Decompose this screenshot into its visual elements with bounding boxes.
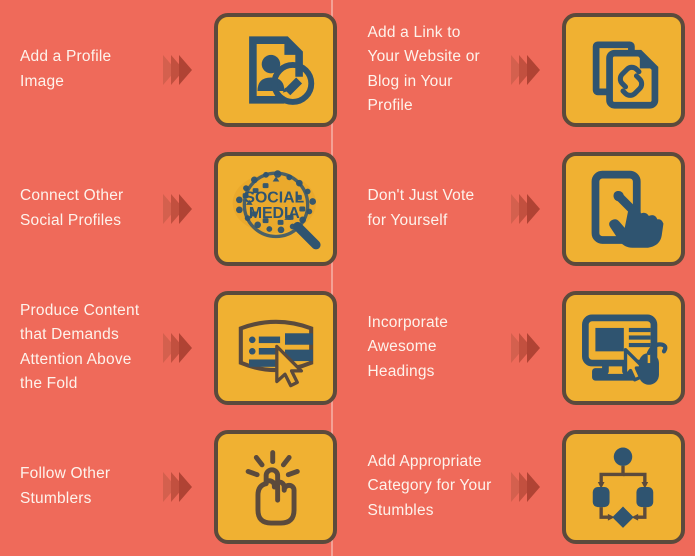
wordcloud-line-1: SOCIAL bbox=[244, 189, 304, 206]
triple-chevron-right-icon bbox=[500, 194, 556, 224]
profile-document-edit-icon bbox=[234, 28, 318, 112]
triple-chevron-right-icon bbox=[500, 472, 556, 502]
social-media-wordcloud-magnifier-icon: SOCIAL MEDIA bbox=[226, 163, 326, 255]
cell-label: Connect Other Social Profiles bbox=[20, 184, 148, 232]
icon-tile[interactable] bbox=[562, 13, 685, 127]
wordcloud-line-2: MEDIA bbox=[248, 205, 300, 222]
monitor-mouse-icon bbox=[577, 306, 669, 390]
icon-tile[interactable] bbox=[214, 430, 337, 544]
infographic-cell[interactable]: Produce Content that Demands Attention A… bbox=[0, 278, 348, 417]
cell-label: Add a Link to Your Website or Blog in Yo… bbox=[368, 21, 496, 117]
infographic-cell[interactable]: Add a Link to Your Website or Blog in Yo… bbox=[348, 0, 695, 139]
cell-label: Produce Content that Demands Attention A… bbox=[20, 299, 148, 395]
icon-tile[interactable] bbox=[562, 430, 685, 544]
infographic-cell[interactable]: Don't Just Vote for Yourself bbox=[348, 139, 695, 278]
cell-label: Follow Other Stumblers bbox=[20, 462, 148, 510]
icon-tile[interactable] bbox=[214, 291, 337, 405]
infographic-cell[interactable]: Add Appropriate Category for Your Stumbl… bbox=[348, 417, 695, 556]
triple-chevron-right-icon bbox=[500, 333, 556, 363]
content-layout-cursor-icon bbox=[231, 307, 321, 389]
clicking-hand-icon bbox=[235, 444, 317, 530]
triple-chevron-right-icon bbox=[152, 333, 208, 363]
icon-tile[interactable] bbox=[562, 291, 685, 405]
infographic-cell[interactable]: Incorporate Awesome Headings bbox=[348, 278, 695, 417]
triple-chevron-right-icon bbox=[152, 55, 208, 85]
triple-chevron-right-icon bbox=[500, 55, 556, 85]
icon-tile[interactable] bbox=[214, 13, 337, 127]
flowchart-category-icon bbox=[580, 445, 666, 529]
icon-tile[interactable]: SOCIAL MEDIA bbox=[214, 152, 337, 266]
triple-chevron-right-icon bbox=[152, 472, 208, 502]
cell-label: Don't Just Vote for Yourself bbox=[368, 184, 496, 232]
infographic-cell[interactable]: Follow Other Stumblers bbox=[0, 417, 348, 556]
triple-chevron-right-icon bbox=[152, 194, 208, 224]
infographic-cell[interactable]: Add a Profile Image bbox=[0, 0, 348, 139]
cell-label: Incorporate Awesome Headings bbox=[368, 311, 496, 383]
infographic-root: Add a Profile Image Add a Link to Your W… bbox=[0, 0, 695, 556]
cell-label: Add Appropriate Category for Your Stumbl… bbox=[368, 450, 496, 522]
icon-tile[interactable] bbox=[562, 152, 685, 266]
tablet-tap-hand-icon bbox=[580, 166, 666, 252]
cell-label: Add a Profile Image bbox=[20, 45, 148, 93]
linked-documents-icon bbox=[581, 28, 665, 112]
infographic-cell[interactable]: Connect Other Social Profiles bbox=[0, 139, 348, 278]
